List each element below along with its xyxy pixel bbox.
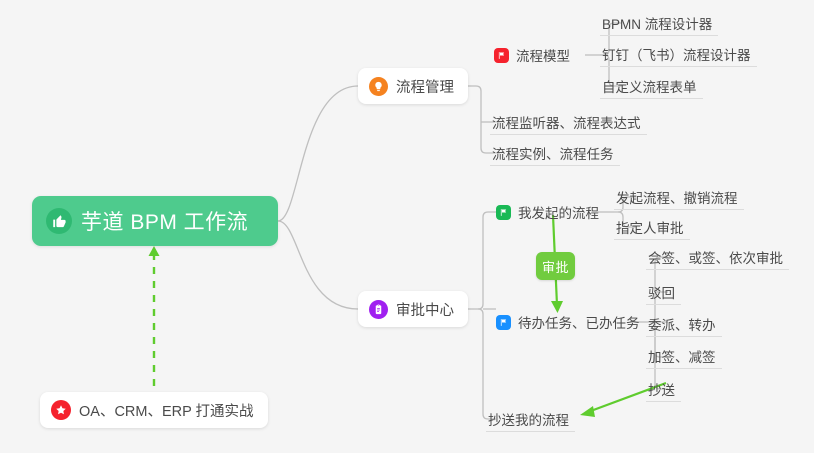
leaf-assignee-approval[interactable]: 指定人审批 xyxy=(614,214,690,240)
subnode-my-initiated-processes[interactable]: 我发起的流程 xyxy=(496,199,605,225)
leaf-label: 钉钉（飞书）流程设计器 xyxy=(602,44,751,64)
mindmap-canvas: 芋道 BPM 工作流 流程管理 流程模型 BPMN 流程设计器 钉钉（飞书）流程… xyxy=(0,0,814,453)
lightbulb-icon xyxy=(369,77,388,96)
clipboard-icon xyxy=(369,300,388,319)
leaf-label: 会签、或签、依次审批 xyxy=(648,247,783,267)
flag-icon xyxy=(496,315,511,330)
leaf-dingtalk-designer[interactable]: 钉钉（飞书）流程设计器 xyxy=(600,41,757,67)
leaf-reject[interactable]: 驳回 xyxy=(646,279,681,305)
bottom-node-label: OA、CRM、ERP 打通实战 xyxy=(79,400,254,421)
subnode-process-model[interactable]: 流程模型 xyxy=(494,42,576,68)
leaf-carbon-copy[interactable]: 抄送 xyxy=(646,376,681,402)
leaf-label: 抄送我的流程 xyxy=(488,409,569,429)
leaf-label: 发起流程、撤销流程 xyxy=(616,187,738,207)
branch-node-process-management[interactable]: 流程管理 xyxy=(358,68,468,104)
leaf-label: 流程实例、流程任务 xyxy=(492,143,614,163)
leaf-label: BPMN 流程设计器 xyxy=(602,13,712,33)
branch-label: 审批中心 xyxy=(396,299,454,320)
root-node[interactable]: 芋道 BPM 工作流 xyxy=(32,196,278,246)
branch-label: 流程管理 xyxy=(396,76,454,97)
chip-label: 审批 xyxy=(542,257,569,276)
leaf-add-remove-sign[interactable]: 加签、减签 xyxy=(646,343,722,369)
leaf-countersign[interactable]: 会签、或签、依次审批 xyxy=(646,244,789,270)
leaf-label: 流程监听器、流程表达式 xyxy=(492,112,641,132)
approval-annotation-chip[interactable]: 审批 xyxy=(536,252,575,280)
leaf-start-cancel-process[interactable]: 发起流程、撤销流程 xyxy=(614,184,744,210)
subnode-label: 待办任务、已办任务 xyxy=(518,312,640,332)
leaf-bpmn-designer[interactable]: BPMN 流程设计器 xyxy=(600,10,718,36)
leaf-label: 指定人审批 xyxy=(616,217,684,237)
flag-icon xyxy=(494,48,509,63)
bottom-node-integration[interactable]: OA、CRM、ERP 打通实战 xyxy=(40,392,268,428)
subnode-todo-done-tasks[interactable]: 待办任务、已办任务 xyxy=(496,309,646,335)
branch-node-approval-center[interactable]: 审批中心 xyxy=(358,291,468,327)
flag-icon xyxy=(496,205,511,220)
leaf-label: 加签、减签 xyxy=(648,346,716,366)
thumbs-up-icon xyxy=(46,208,72,234)
leaf-label: 抄送 xyxy=(648,379,675,399)
leaf-process-listener[interactable]: 流程监听器、流程表达式 xyxy=(490,109,647,135)
leaf-delegate-transfer[interactable]: 委派、转办 xyxy=(646,311,722,337)
subnode-label: 我发起的流程 xyxy=(518,202,599,222)
leaf-label: 自定义流程表单 xyxy=(602,76,697,96)
leaf-label: 驳回 xyxy=(648,282,675,302)
leaf-cc-my-processes[interactable]: 抄送我的流程 xyxy=(486,406,575,432)
leaf-process-instance[interactable]: 流程实例、流程任务 xyxy=(490,140,620,166)
subnode-label: 流程模型 xyxy=(516,45,570,65)
leaf-custom-form[interactable]: 自定义流程表单 xyxy=(600,73,703,99)
dashed-connector-arrow xyxy=(149,246,160,400)
star-icon xyxy=(51,400,71,420)
leaf-label: 委派、转办 xyxy=(648,314,716,334)
root-label: 芋道 BPM 工作流 xyxy=(81,206,248,236)
